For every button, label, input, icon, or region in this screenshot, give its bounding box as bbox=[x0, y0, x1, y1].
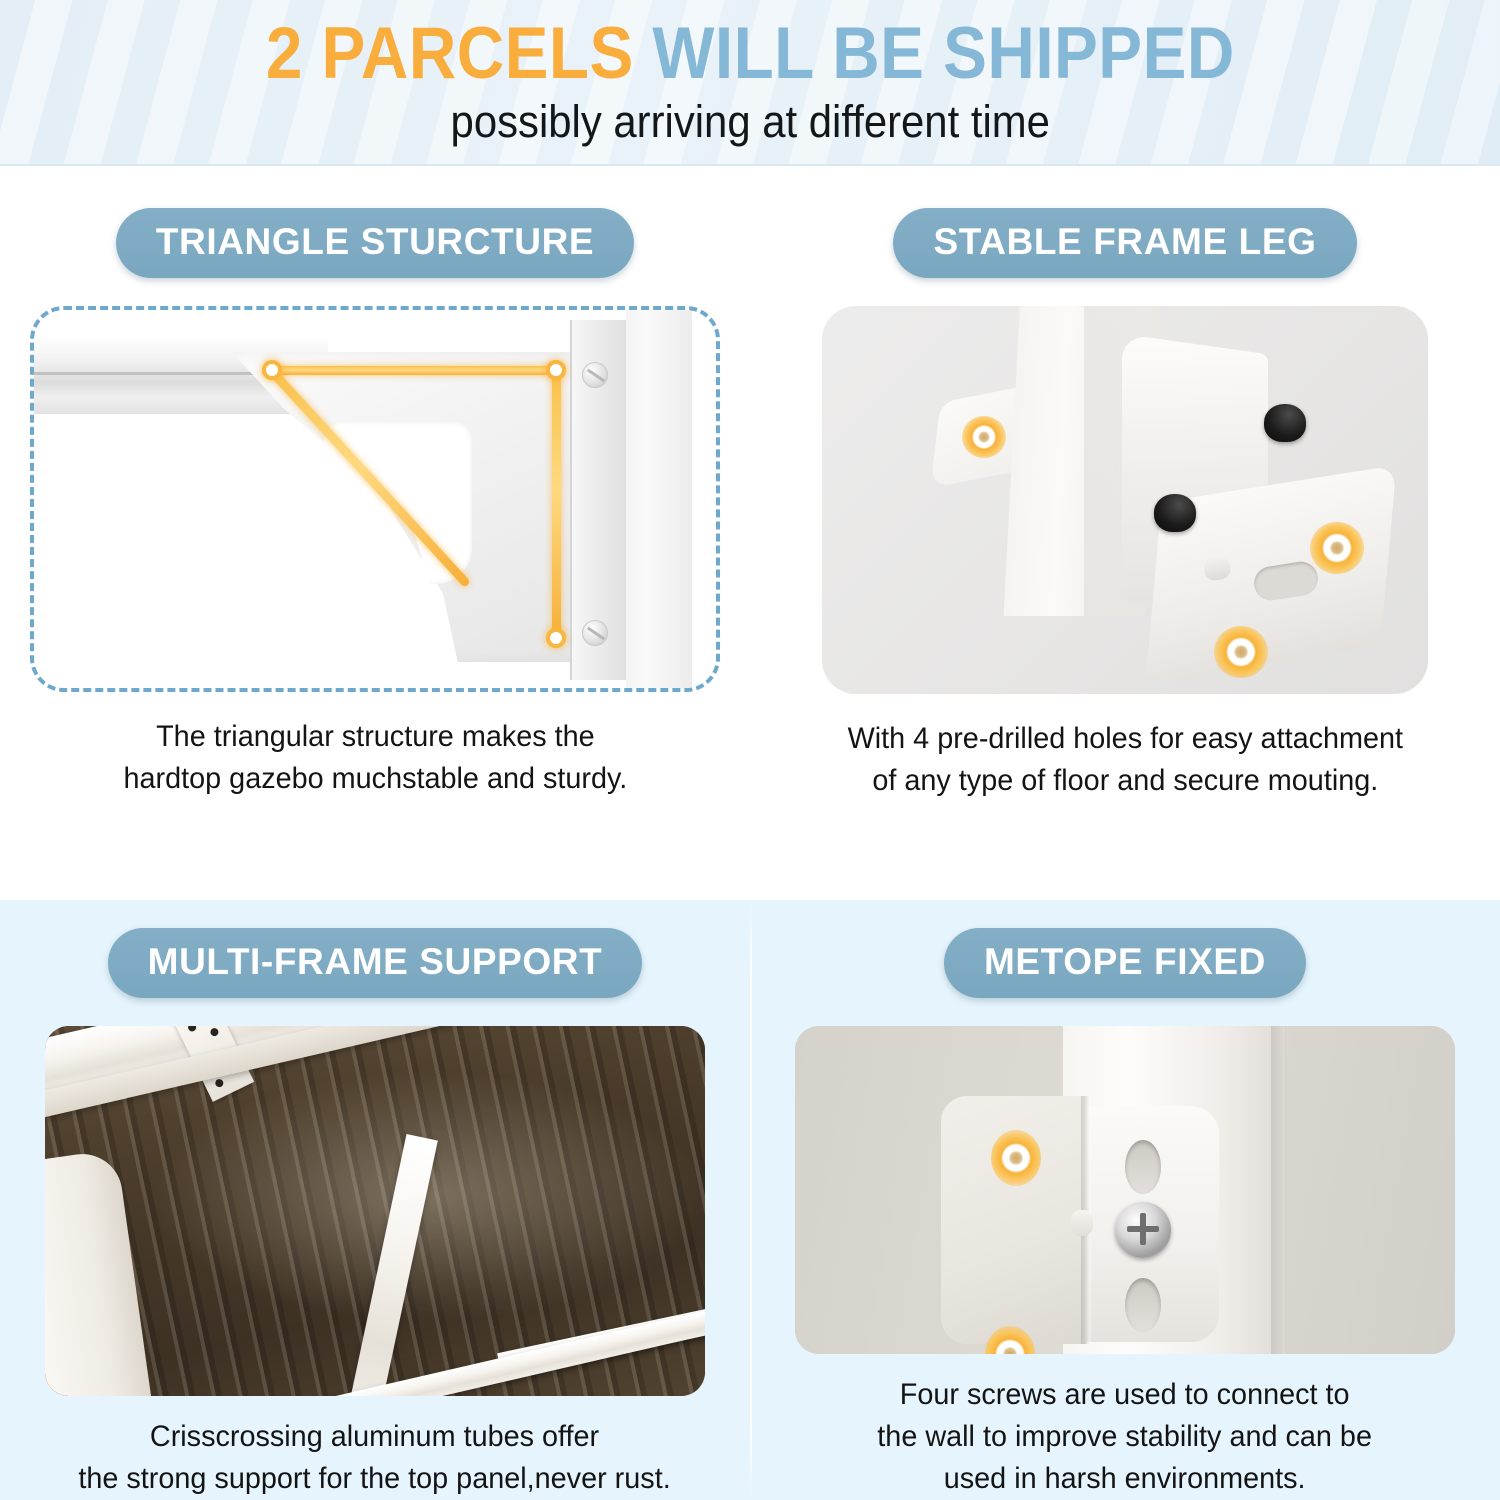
annotation-node-icon bbox=[546, 360, 566, 380]
photo-triangle-structure bbox=[30, 306, 720, 692]
feature-panel-metope-fixed: METOPE FIXED bbox=[750, 900, 1500, 1500]
infographic-page: 2 PARCELS WILL BE SHIPPED possibly arriv… bbox=[0, 0, 1500, 1500]
annotation-line-right bbox=[552, 366, 561, 636]
bracket-nub-shape bbox=[1071, 1210, 1093, 1236]
header-banner: 2 PARCELS WILL BE SHIPPED possibly arriv… bbox=[0, 0, 1500, 166]
phillips-screw-icon bbox=[1115, 1202, 1171, 1258]
wall-mount-illustration bbox=[795, 1026, 1455, 1354]
annotation-line-hypotenuse bbox=[264, 364, 471, 588]
joint-bolt-dot bbox=[209, 1027, 220, 1038]
pill-label-triangle-structure: TRIANGLE STURCTURE bbox=[116, 208, 634, 278]
caption-metope-fixed: Four screws are used to connect to the w… bbox=[878, 1374, 1373, 1500]
feature-panel-triangle-structure: TRIANGLE STURCTURE bbox=[0, 166, 750, 900]
caption-triangle-structure: The triangular structure makes the hardt… bbox=[123, 716, 627, 800]
black-bolt-icon bbox=[1264, 404, 1306, 442]
caption-stable-frame-leg: With 4 pre-drilled holes for easy attach… bbox=[847, 718, 1402, 802]
pill-label-multi-frame-support: MULTI-FRAME SUPPORT bbox=[108, 928, 643, 998]
hole-marker-ring-icon bbox=[1214, 626, 1268, 678]
page-title: 2 PARCELS WILL BE SHIPPED bbox=[266, 12, 1235, 96]
hole-marker-ring-icon bbox=[991, 1130, 1041, 1186]
joint-bolt-dot bbox=[187, 1026, 198, 1033]
oval-hole-shape bbox=[1125, 1140, 1161, 1194]
photo-metope-fixed bbox=[795, 1026, 1455, 1354]
feature-row-bottom: MULTI-FRAME SUPPORT bbox=[0, 900, 1500, 1500]
feature-row-top: TRIANGLE STURCTURE bbox=[0, 166, 1500, 900]
oval-hole-shape bbox=[1125, 1278, 1161, 1332]
page-subtitle: possibly arriving at different time bbox=[450, 94, 1049, 150]
roof-underside-illustration bbox=[45, 1026, 705, 1396]
pill-label-metope-fixed: METOPE FIXED bbox=[944, 928, 1306, 998]
feature-panel-multi-frame-support: MULTI-FRAME SUPPORT bbox=[0, 900, 750, 1500]
page-title-rest: WILL BE SHIPPED bbox=[633, 13, 1234, 94]
pill-label-stable-frame-leg: STABLE FRAME LEG bbox=[893, 208, 1356, 278]
feature-panel-stable-frame-leg: STABLE FRAME LEG bbox=[750, 166, 1500, 900]
annotation-node-icon bbox=[262, 360, 282, 380]
caption-multi-frame-support: Crisscrossing aluminum tubes offer the s… bbox=[79, 1416, 671, 1500]
joint-bolt-dot bbox=[214, 1078, 225, 1089]
post-edge-shadow bbox=[1271, 1026, 1287, 1354]
annotation-line-top bbox=[270, 366, 558, 375]
hole-marker-ring-icon bbox=[962, 416, 1006, 458]
photo-multi-frame-support bbox=[45, 1026, 705, 1396]
annotation-node-icon bbox=[546, 628, 566, 648]
hole-marker-ring-icon bbox=[1310, 522, 1364, 574]
photo-stable-frame-leg bbox=[822, 306, 1428, 694]
frame-leg-illustration bbox=[822, 306, 1428, 694]
feature-grid: TRIANGLE STURCTURE bbox=[0, 166, 1500, 1500]
triangle-annotation-overlay bbox=[34, 310, 716, 688]
black-bolt-icon bbox=[1154, 494, 1196, 532]
page-title-highlight: 2 PARCELS bbox=[266, 13, 634, 94]
